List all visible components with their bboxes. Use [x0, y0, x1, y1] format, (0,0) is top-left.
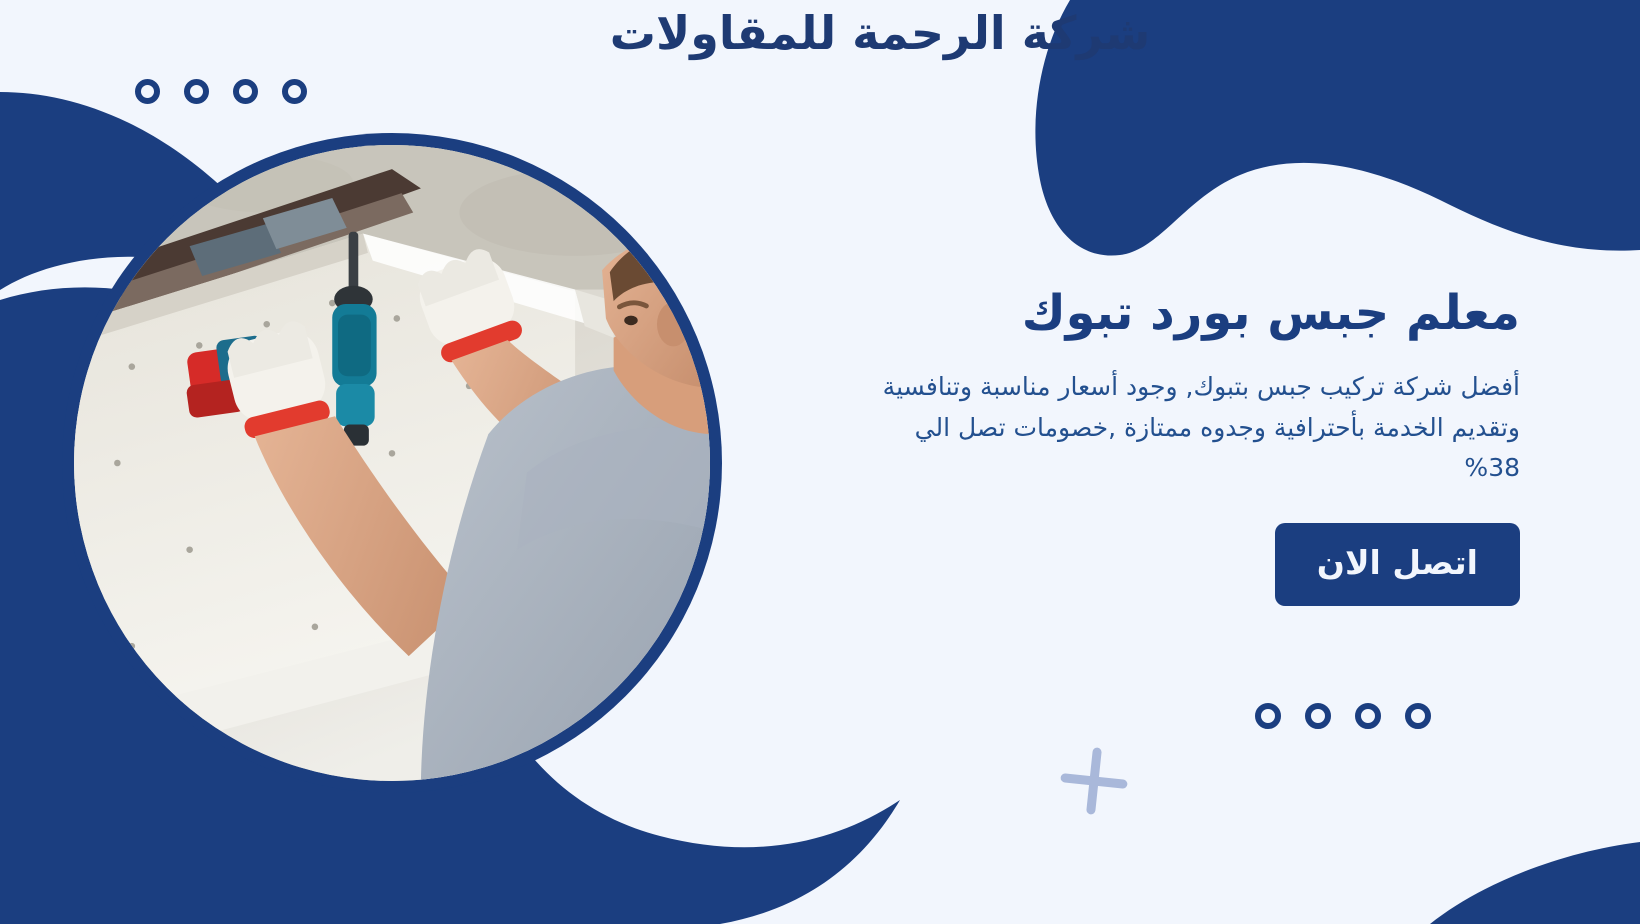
copy-block: معلم جبس بورد تبوك أفضل شركة تركيب جبس ب…	[860, 286, 1520, 606]
decorative-dots-bottom-right	[1255, 703, 1431, 729]
call-now-button[interactable]: اتصل الان	[1275, 523, 1520, 606]
banner-canvas: شركة الرحمة للمقاولات	[0, 0, 1640, 924]
photo-circle-frame	[62, 133, 722, 793]
ring-dot-icon	[1405, 703, 1431, 729]
brand-title: شركة الرحمة للمقاولات	[0, 6, 1640, 60]
ring-dot-icon	[135, 79, 160, 104]
ring-dot-icon	[282, 79, 307, 104]
plus-icon	[1058, 745, 1130, 817]
ring-dot-icon	[1305, 703, 1331, 729]
page-title: معلم جبس بورد تبوك	[860, 286, 1520, 341]
ring-dot-icon	[1355, 703, 1381, 729]
worker-gypsum-photo	[74, 145, 710, 781]
cta-row: اتصل الان	[860, 523, 1520, 606]
description-text: أفضل شركة تركيب جبس بتبوك, وجود أسعار من…	[860, 367, 1520, 489]
decorative-dots-top-left	[135, 79, 307, 104]
photo-clip	[74, 145, 710, 781]
ring-dot-icon	[1255, 703, 1281, 729]
ring-dot-icon	[184, 79, 209, 104]
ring-dot-icon	[233, 79, 258, 104]
